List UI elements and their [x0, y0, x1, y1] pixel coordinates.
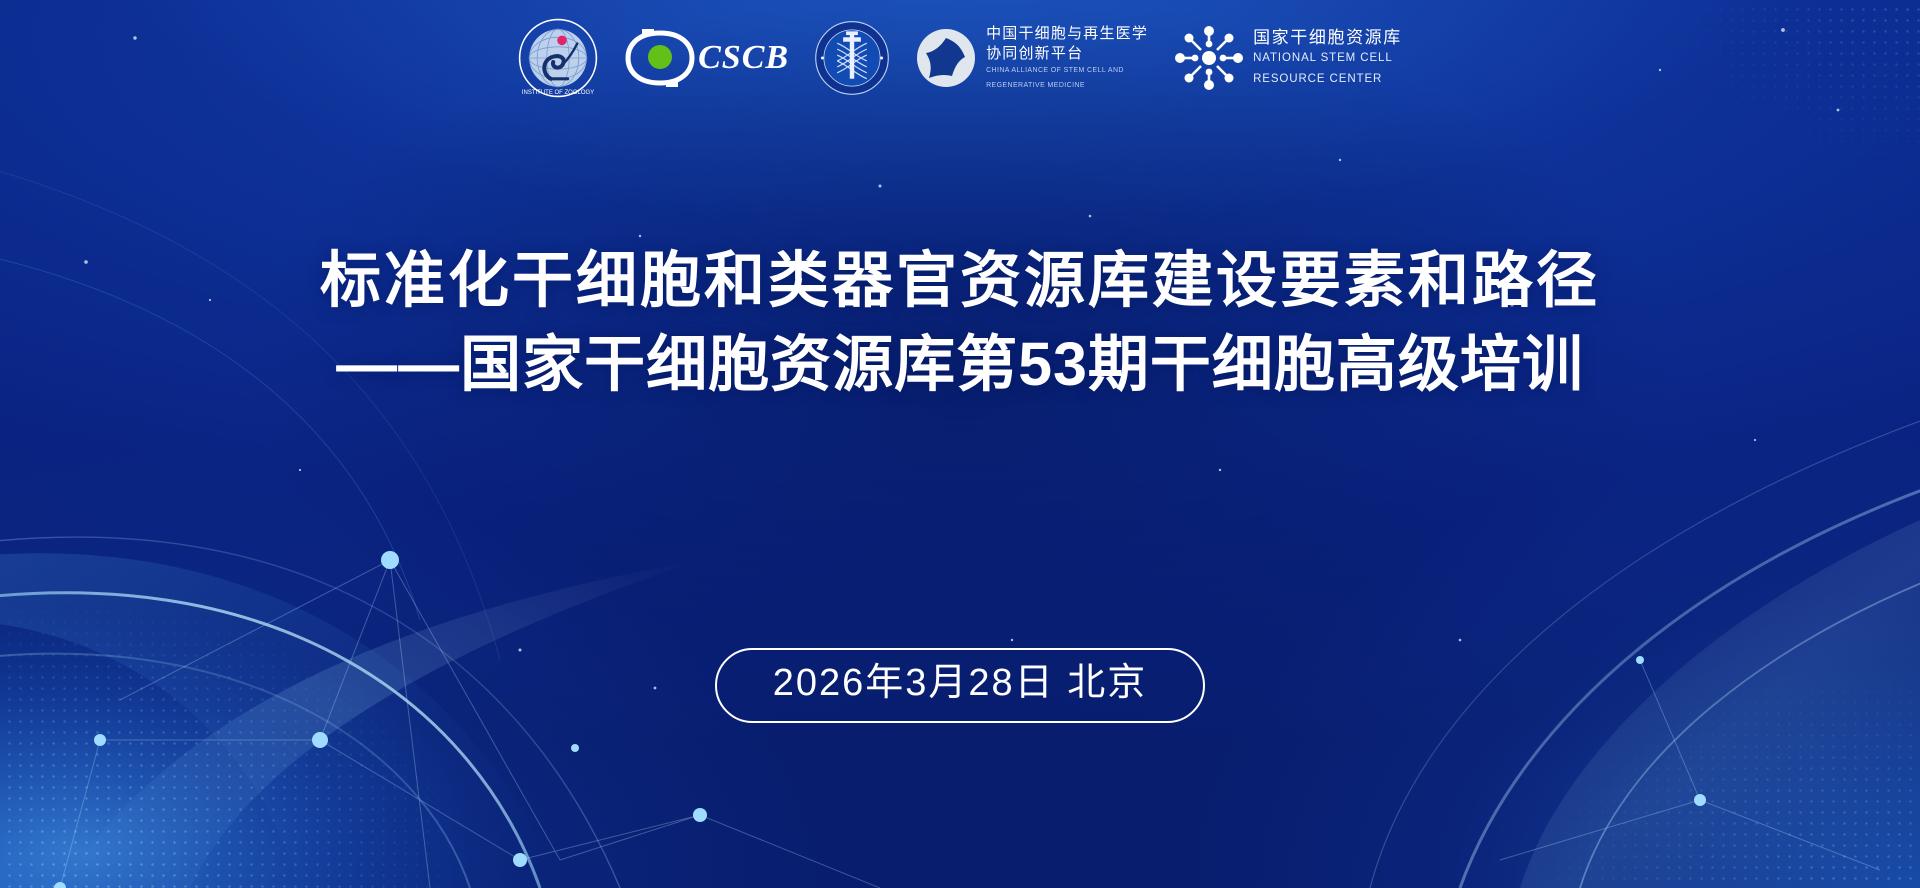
alliance-cn-line1: 中国干细胞与再生医学: [986, 26, 1148, 41]
stem-cell-dna-seal-icon: [815, 21, 889, 95]
zoology-crane-globe-seal-icon: INSTITUTE OF ZOOLOGY: [518, 18, 598, 98]
svg-text:INSTITUTE OF ZOOLOGY: INSTITUTE OF ZOOLOGY: [522, 90, 594, 96]
alliance-cn-line2: 协同创新平台: [986, 46, 1148, 61]
molecule-node-cluster-icon: [1174, 25, 1244, 91]
cscb-abbr-text: CSCB: [698, 39, 789, 77]
date-location-badge: 2026年3月28日 北京: [715, 648, 1206, 723]
training-banner: INSTITUTE OF ZOOLOGY CSCB: [0, 0, 1920, 888]
banner-title: 标准化干细胞和类器官资源库建设要素和路径 ——国家干细胞资源库第53期干细胞高级…: [0, 238, 1920, 406]
date-location-badge-wrapper: 2026年3月28日 北京: [0, 648, 1920, 723]
logo-stem-cell-innovation-seal: [815, 21, 889, 95]
logo-national-stem-cell-resource-center: 国家干细胞资源库 NATIONAL STEM CELL RESOURCE CEN…: [1174, 25, 1402, 91]
background-network-nodes: [0, 0, 1920, 888]
title-line-2: ——国家干细胞资源库第53期干细胞高级培训: [0, 322, 1920, 406]
cscb-cell-ring-icon: [624, 27, 696, 89]
nscrc-cn-name: 国家干细胞资源库: [1253, 29, 1402, 46]
alliance-abstract-circle-icon: [915, 27, 977, 89]
sponsor-logo-bar: INSTITUTE OF ZOOLOGY CSCB: [0, 18, 1920, 98]
logo-china-alliance-stem-cell: 中国干细胞与再生医学 协同创新平台 CHINA ALLIANCE OF STEM…: [915, 26, 1148, 90]
alliance-en-line1: CHINA ALLIANCE OF STEM CELL AND: [986, 66, 1148, 75]
nscrc-en-line2: RESOURCE CENTER: [1253, 72, 1402, 88]
title-line-1: 标准化干细胞和类器官资源库建设要素和路径: [0, 238, 1920, 322]
logo-cscb: CSCB: [624, 27, 789, 89]
logo-institute-of-zoology-cas: INSTITUTE OF ZOOLOGY: [518, 18, 598, 98]
nscrc-en-line1: NATIONAL STEM CELL: [1253, 51, 1402, 67]
alliance-en-line2: REGENERATIVE MEDICINE: [986, 81, 1148, 90]
